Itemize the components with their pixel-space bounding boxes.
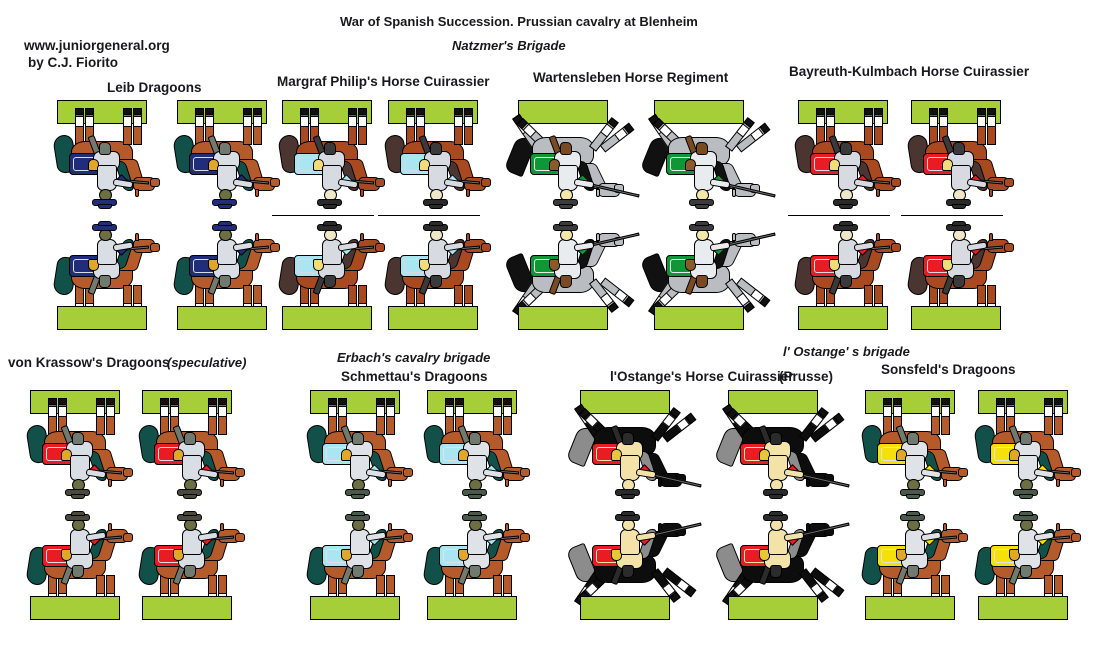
figure-half-mirrored [508, 100, 626, 215]
unit-label-lostange-horse-cuirassier: l'Ostange's Horse Cuirassier [610, 369, 794, 384]
horse-sock [386, 406, 395, 417]
tricorn-hat-crown [218, 204, 232, 209]
figure-base [57, 306, 147, 330]
horse-sock [106, 406, 115, 417]
rider-torso [350, 529, 370, 555]
horse-leg [874, 109, 883, 145]
figure-leib-dragoons[interactable] [47, 100, 165, 330]
horse-hoof [386, 399, 395, 406]
horse-hoof [195, 109, 204, 116]
page-title: War of Spanish Succession. Prussian cava… [340, 14, 698, 29]
horse-figure [968, 390, 1086, 505]
horse-leg [883, 399, 892, 435]
horse-figure [644, 100, 762, 215]
figure-half-mirrored [417, 390, 535, 505]
horse-sock [406, 116, 415, 127]
horse-hoof [160, 399, 169, 406]
figure-half-mirrored [718, 390, 836, 505]
figure-base [654, 306, 744, 330]
horse-sock [310, 116, 319, 127]
horse-muzzle [150, 178, 160, 187]
credit-author: by C.J. Fiorito [28, 55, 118, 70]
rider-figure [610, 513, 666, 573]
horse-hoof [939, 109, 948, 116]
horse-leg [75, 109, 84, 145]
horse-hoof [493, 399, 502, 406]
rider-figure [418, 147, 474, 207]
rider-arm [710, 241, 731, 251]
horse-leg [96, 399, 105, 435]
horse-sock [996, 406, 1005, 417]
horse-leg [996, 399, 1005, 435]
tricorn-hat-crown [769, 494, 783, 499]
horse-sock [503, 406, 512, 417]
tricorn-hat-crown [839, 221, 853, 226]
horse-sock [455, 406, 464, 417]
horse-muzzle [958, 468, 968, 477]
horse-sock [929, 116, 938, 127]
horse-sock [300, 116, 309, 127]
horse-sock [977, 116, 986, 127]
rider-boot [184, 565, 196, 578]
fold-line [788, 215, 890, 216]
horse-muzzle [891, 178, 901, 187]
figure-half-mirrored [20, 390, 138, 505]
rider-torso [1018, 529, 1038, 555]
fold-line [272, 215, 374, 216]
horse-leg [977, 109, 986, 145]
rider-boot [770, 565, 782, 578]
rider-torso [905, 529, 925, 555]
horse-sock [253, 116, 262, 127]
horse-sock [376, 406, 385, 417]
tricorn-hat-crown [71, 511, 85, 516]
horse-muzzle [520, 468, 530, 477]
horse-sock [445, 406, 454, 417]
horse-hoof [170, 399, 179, 406]
figure-base [282, 306, 372, 330]
horse-figure [132, 390, 250, 505]
figure-leib-dragoons[interactable] [167, 100, 285, 330]
horse-hoof [253, 109, 262, 116]
figure-base [310, 596, 400, 620]
unit-label-margraf-philip-horse-cuirassier: Margraf Philip's Horse Cuirassier [277, 74, 490, 89]
rider-boot [953, 142, 965, 155]
figure-base [911, 306, 1001, 330]
horse-sock [243, 116, 252, 127]
tricorn-hat-crown [98, 204, 112, 209]
horse-sock [96, 406, 105, 417]
horse-leg [929, 109, 938, 145]
horse-leg [1054, 399, 1063, 435]
horse-hoof [1044, 399, 1053, 406]
horse-figure [20, 390, 138, 505]
horse-hoof [48, 399, 57, 406]
rider-boot [72, 565, 84, 578]
tricorn-hat-crown [351, 494, 365, 499]
horse-hoof [893, 399, 902, 406]
figure-base [865, 596, 955, 620]
rider-boot [324, 275, 336, 288]
tricorn-hat-crown [183, 511, 197, 516]
rider-boot [352, 432, 364, 445]
horse-sock [160, 406, 169, 417]
rider-figure [895, 513, 951, 573]
horse-leg [376, 399, 385, 435]
horse-sock [208, 406, 217, 417]
figure-half-mirrored [47, 100, 165, 215]
horse-figure [378, 100, 496, 215]
tricorn-hat-crown [695, 204, 709, 209]
horse-leg [503, 399, 512, 435]
rider-boot [99, 275, 111, 288]
horse-leg [931, 399, 940, 435]
figure-lostange-horse-cuirassier[interactable] [570, 390, 688, 620]
horse-leg [1044, 399, 1053, 435]
tricorn-hat-crown [351, 511, 365, 516]
rider-torso [70, 529, 90, 555]
horse-leg [300, 109, 309, 145]
brigade-label-erbach: Erbach's cavalry brigade [337, 350, 490, 365]
horse-sock [1006, 406, 1015, 417]
horse-muzzle [520, 533, 530, 542]
unit-label-von-krassow-dragoons: von Krassow's Dragoons [8, 355, 170, 370]
horse-figure [47, 100, 165, 215]
rider-arm [636, 531, 657, 541]
horse-hoof [328, 399, 337, 406]
figure-base [177, 306, 267, 330]
horse-muzzle [1071, 533, 1081, 542]
horse-hoof [243, 109, 252, 116]
horse-figure [167, 100, 285, 215]
horse-hoof [987, 109, 996, 116]
horse-sock [328, 406, 337, 417]
figure-half-mirrored [167, 100, 285, 215]
rider-figure [941, 147, 997, 207]
rider-figure [172, 513, 228, 573]
unit-label-lostange-suffix: (Prusse) [779, 369, 833, 384]
rider-boot [907, 432, 919, 445]
figure-base [580, 596, 670, 620]
rider-boot [907, 565, 919, 578]
rider-figure [1008, 437, 1064, 497]
figure-base [978, 596, 1068, 620]
rider-boot [840, 275, 852, 288]
horse-sock [893, 406, 902, 417]
horse-figure [272, 100, 390, 215]
rider-figure [895, 437, 951, 497]
rider-boot [696, 275, 708, 288]
horse-hoof [205, 109, 214, 116]
figure-von-krassow-dragoons[interactable] [20, 390, 138, 620]
rider-boot [953, 275, 965, 288]
horse-sock [941, 406, 950, 417]
brigade-label-natzmer: Natzmer's Brigade [452, 38, 566, 53]
horse-sock [1044, 406, 1053, 417]
figure-half-mirrored [968, 390, 1086, 505]
figure-half-mirrored [132, 390, 250, 505]
horse-sock [874, 116, 883, 127]
tricorn-hat-crown [71, 494, 85, 499]
horse-hoof [455, 399, 464, 406]
rider-figure [312, 223, 368, 283]
horse-leg [987, 109, 996, 145]
rider-figure [340, 437, 396, 497]
horse-hoof [931, 399, 940, 406]
figure-half-mirrored [570, 390, 688, 505]
horse-hoof [1006, 399, 1015, 406]
rider-figure [418, 223, 474, 283]
horse-leg [358, 109, 367, 145]
horse-hoof [75, 109, 84, 116]
brigade-label-lostange: l' Ostange' s brigade [783, 344, 910, 359]
rider-figure [828, 147, 884, 207]
figure-sonsfeld-dragoons[interactable] [855, 390, 973, 620]
rider-torso [182, 529, 202, 555]
horse-hoof [300, 109, 309, 116]
tricorn-hat-crown [323, 204, 337, 209]
fold-line [378, 215, 480, 216]
horse-sock [454, 116, 463, 127]
tricorn-hat-crown [218, 221, 232, 226]
horse-sock [826, 116, 835, 127]
rider-torso [768, 529, 788, 555]
horse-muzzle [235, 468, 245, 477]
tricorn-hat-crown [839, 204, 853, 209]
tricorn-hat-crown [429, 204, 443, 209]
horse-muzzle [235, 533, 245, 542]
unit-label-sonsfeld-dragoons: Sonsfeld's Dragoons [881, 362, 1015, 377]
horse-leg [864, 109, 873, 145]
horse-sock [338, 406, 347, 417]
horse-hoof [123, 109, 132, 116]
figure-base [427, 596, 517, 620]
rider-figure [207, 223, 263, 283]
horse-muzzle [891, 243, 901, 252]
rider-boot [770, 432, 782, 445]
rider-torso [694, 239, 714, 265]
rider-boot [219, 275, 231, 288]
horse-hoof [454, 109, 463, 116]
horse-leg [195, 109, 204, 145]
horse-muzzle [1071, 468, 1081, 477]
rider-torso [467, 529, 487, 555]
horse-leg [133, 109, 142, 145]
horse-hoof [503, 399, 512, 406]
horse-hoof [58, 399, 67, 406]
rider-figure [172, 437, 228, 497]
horse-hoof [996, 399, 1005, 406]
horse-hoof [96, 399, 105, 406]
rider-figure [87, 223, 143, 283]
figure-base [142, 596, 232, 620]
figure-wartensleben-horse-regiment[interactable] [508, 100, 626, 330]
horse-hoof [106, 399, 115, 406]
horse-leg [123, 109, 132, 145]
figure-wartensleben-horse-regiment[interactable] [644, 100, 762, 330]
figure-half-mirrored [300, 390, 418, 505]
horse-hoof [218, 399, 227, 406]
figure-half-mirrored [272, 100, 390, 215]
horse-sock [987, 116, 996, 127]
rider-boot [324, 142, 336, 155]
horse-leg [48, 399, 57, 435]
rider-torso [322, 239, 342, 265]
rider-torso [620, 529, 640, 555]
horse-leg [386, 399, 395, 435]
horse-hoof [874, 109, 883, 116]
unit-label-bayreuth-kulmbach-horse-cuirassier: Bayreuth-Kulmbach Horse Cuirassier [789, 64, 1029, 79]
tricorn-hat-crown [952, 221, 966, 226]
rider-torso [428, 239, 448, 265]
rider-boot [1020, 432, 1032, 445]
tricorn-hat-crown [621, 511, 635, 516]
horse-hoof [133, 109, 142, 116]
rider-figure [60, 437, 116, 497]
horse-leg [208, 399, 217, 435]
horse-leg [106, 399, 115, 435]
tricorn-hat-crown [952, 204, 966, 209]
figure-half-mirrored [855, 390, 973, 505]
horse-sock [883, 406, 892, 417]
rider-boot [430, 142, 442, 155]
horse-hoof [826, 109, 835, 116]
horse-hoof [376, 399, 385, 406]
rider-figure [60, 513, 116, 573]
rider-figure [758, 437, 814, 497]
horse-sock [939, 116, 948, 127]
rider-figure [548, 223, 604, 283]
horse-hoof [338, 399, 347, 406]
horse-hoof [406, 109, 415, 116]
rider-boot [840, 142, 852, 155]
horse-sock [218, 406, 227, 417]
tricorn-hat-crown [429, 221, 443, 226]
horse-leg [218, 399, 227, 435]
credit-website[interactable]: www.juniorgeneral.org [24, 38, 170, 53]
rider-figure [610, 437, 666, 497]
horse-sock [416, 116, 425, 127]
horse-sock [123, 116, 132, 127]
rider-torso [558, 239, 578, 265]
figure-schmettau-dragoons[interactable] [300, 390, 418, 620]
horse-muzzle [150, 243, 160, 252]
horse-leg [816, 109, 825, 145]
tricorn-hat-crown [695, 221, 709, 226]
horse-sock [170, 406, 179, 417]
figure-sonsfeld-dragoons[interactable] [968, 390, 1086, 620]
rider-figure [207, 147, 263, 207]
horse-muzzle [403, 533, 413, 542]
tricorn-hat-crown [906, 511, 920, 516]
figure-base [30, 596, 120, 620]
horse-sock [195, 116, 204, 127]
horse-hoof [929, 109, 938, 116]
horse-hoof [208, 399, 217, 406]
horse-sock [358, 116, 367, 127]
rider-boot [219, 142, 231, 155]
figure-half-mirrored [788, 100, 906, 215]
rider-figure [340, 513, 396, 573]
rider-boot [469, 565, 481, 578]
rider-arm [574, 241, 595, 251]
rider-torso [97, 239, 117, 265]
horse-hoof [348, 109, 357, 116]
tricorn-hat-crown [1019, 511, 1033, 516]
rider-figure [87, 147, 143, 207]
horse-sock [864, 116, 873, 127]
tricorn-hat-crown [98, 221, 112, 226]
figure-base [798, 306, 888, 330]
horse-leg [445, 399, 454, 435]
horse-figure [570, 390, 688, 505]
horse-sock [931, 406, 940, 417]
horse-muzzle [481, 178, 491, 187]
figure-lostange-horse-cuirassier[interactable] [718, 390, 836, 620]
horse-leg [328, 399, 337, 435]
rider-torso [217, 239, 237, 265]
horse-hoof [358, 109, 367, 116]
rider-boot [622, 432, 634, 445]
horse-figure [901, 100, 1019, 215]
rider-boot [1020, 565, 1032, 578]
tricorn-hat-crown [468, 494, 482, 499]
horse-figure [508, 100, 626, 215]
horse-muzzle [1004, 243, 1014, 252]
tricorn-hat-crown [906, 494, 920, 499]
horse-hoof [1054, 399, 1063, 406]
horse-figure [417, 390, 535, 505]
figure-schmettau-dragoons[interactable] [417, 390, 535, 620]
tricorn-hat-crown [1019, 494, 1033, 499]
horse-leg [464, 109, 473, 145]
rider-boot [696, 142, 708, 155]
unit-label-leib-dragoons: Leib Dragoons [107, 80, 202, 95]
unit-label-von-krassow-suffix: (speculative) [167, 355, 246, 370]
horse-leg [348, 109, 357, 145]
horse-muzzle [958, 533, 968, 542]
tricorn-hat-crown [621, 494, 635, 499]
figure-half-mirrored [644, 100, 762, 215]
horse-muzzle [1004, 178, 1014, 187]
horse-leg [941, 399, 950, 435]
horse-hoof [416, 109, 425, 116]
horse-leg [493, 399, 502, 435]
rider-boot [72, 432, 84, 445]
horse-hoof [941, 399, 950, 406]
horse-sock [85, 116, 94, 127]
horse-sock [464, 116, 473, 127]
horse-figure [718, 390, 836, 505]
horse-sock [75, 116, 84, 127]
tricorn-hat-crown [559, 221, 573, 226]
rider-boot [99, 142, 111, 155]
rider-figure [684, 223, 740, 283]
horse-sock [48, 406, 57, 417]
horse-hoof [85, 109, 94, 116]
horse-hoof [310, 109, 319, 116]
horse-hoof [864, 109, 873, 116]
fold-line [901, 215, 1003, 216]
horse-leg [454, 109, 463, 145]
rider-figure [941, 223, 997, 283]
rider-arm [784, 531, 805, 541]
figure-von-krassow-dragoons[interactable] [132, 390, 250, 620]
figure-base [728, 596, 818, 620]
horse-sock [205, 116, 214, 127]
rider-boot [560, 142, 572, 155]
rider-figure [684, 147, 740, 207]
